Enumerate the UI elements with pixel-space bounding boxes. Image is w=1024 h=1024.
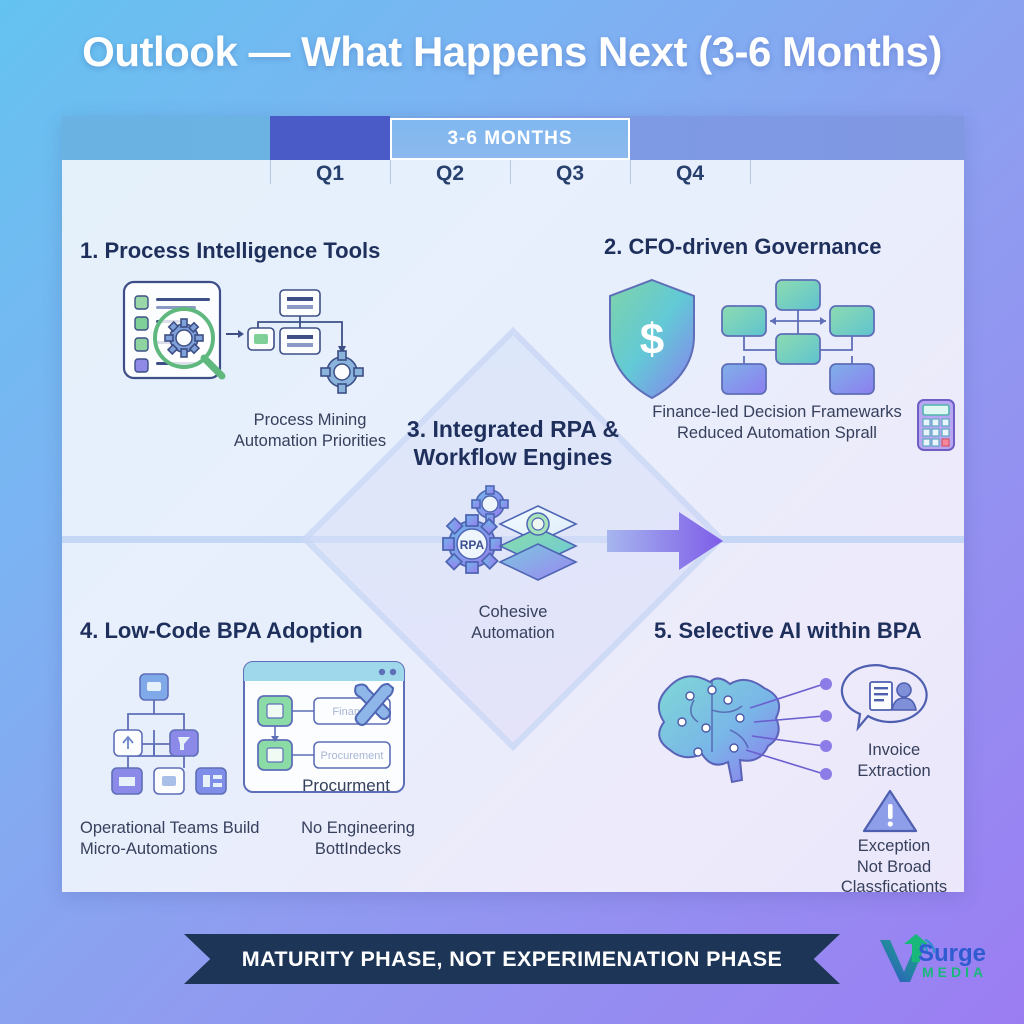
warning-triangle-icon — [862, 788, 918, 834]
quarter-tick — [750, 160, 751, 184]
rpa-gear-label: RPA — [460, 538, 485, 552]
right-arrow-icon — [607, 506, 727, 576]
quadrant-5-caption-exception: Exception Not Broad Classficationts — [822, 836, 964, 892]
quadrant-4-caption-line1: Operational Teams Build — [80, 818, 290, 839]
tools-cross-icon — [350, 680, 394, 726]
quadrant-5-caption-line2: Extraction — [834, 761, 954, 782]
timeline-q1-highlight — [270, 116, 390, 160]
infographic-panel: 3-6 MONTHS Q1 Q2 Q3 Q4 1. Process Intell… — [62, 116, 964, 892]
center-title-line1: 3. Integrated RPA & — [388, 416, 638, 444]
quadrant-4-caption-left: Operational Teams Build Micro-Automation… — [80, 818, 290, 859]
center-title-line2: Workflow Engines — [388, 444, 638, 472]
quadrant-2-title: 2. CFO-driven Governance — [604, 234, 882, 259]
quadrant-5-title: 5. Selective AI within BPA — [654, 618, 922, 643]
quadrant-4-caption-right: No Engineering BottIndecks — [278, 818, 438, 859]
magnifier-checklist-flow-icon — [118, 276, 378, 396]
svg-text:$: $ — [640, 315, 664, 364]
node-label-2: Procurement — [321, 750, 384, 762]
quadrant-selective-ai: 5. Selective AI within BPA — [622, 618, 962, 888]
quadrant-5-caption-line3: Exception — [822, 836, 964, 857]
calculator-icon — [916, 398, 956, 452]
quarter-label-q2: Q2 — [390, 162, 510, 186]
document-person-bubble-icon — [850, 666, 930, 732]
gears-stack-icon: RPA — [430, 482, 590, 592]
quadrant-4-title: 4. Low-Code BPA Adoption — [80, 618, 480, 643]
quarter-label-q3: Q3 — [510, 162, 630, 186]
dollar-shield-org-chart-icon: $ — [604, 274, 904, 404]
quadrant-1-title: 1. Process Intelligence Tools — [80, 238, 480, 263]
quadrant-5-caption-line5: Classficationts — [822, 877, 964, 892]
quadrant-2-caption: Finance-led Decision Framewarks Reduced … — [652, 402, 902, 443]
quadrant-4-caption-line3: No Engineering — [278, 818, 438, 839]
quadrant-4-caption-line4: BottIndecks — [278, 839, 438, 860]
quadrant-2-caption-line2: Reduced Automation Sprall — [652, 423, 902, 444]
center-title: 3. Integrated RPA & Workflow Engines — [388, 416, 638, 471]
logo-text-media: MEDIA — [922, 964, 987, 980]
timeline-window-badge: 3-6 MONTHS — [390, 118, 630, 160]
quadrant-low-code-bpa: 4. Low-Code BPA Adoption — [80, 618, 480, 878]
brand-logo[interactable]: Surge MEDIA — [876, 926, 1008, 988]
timeline-quarter-row: Q1 Q2 Q3 Q4 — [62, 160, 964, 196]
bottom-banner: MATURITY PHASE, NOT EXPERIMENATION PHASE — [184, 934, 840, 984]
page-title: Outlook — What Happens Next (3-6 Months) — [0, 28, 1024, 76]
quadrant-2-caption-line1: Finance-led Decision Framewarks — [652, 402, 902, 423]
timeline-bar: 3-6 MONTHS — [62, 116, 964, 160]
low-code-builder-icon: Finance Procurement — [108, 656, 408, 796]
quadrant-4-caption-line2: Micro-Automations — [80, 839, 290, 860]
quarter-label-q1: Q1 — [270, 162, 390, 186]
quadrant-5-caption-invoice: Invoice Extraction — [834, 740, 954, 781]
quadrant-5-caption-line1: Invoice — [834, 740, 954, 761]
builder-window-caption: Procurment — [276, 776, 416, 796]
quarter-label-q4: Q4 — [630, 162, 750, 186]
quadrant-5-caption-line4: Not Broad — [822, 857, 964, 878]
